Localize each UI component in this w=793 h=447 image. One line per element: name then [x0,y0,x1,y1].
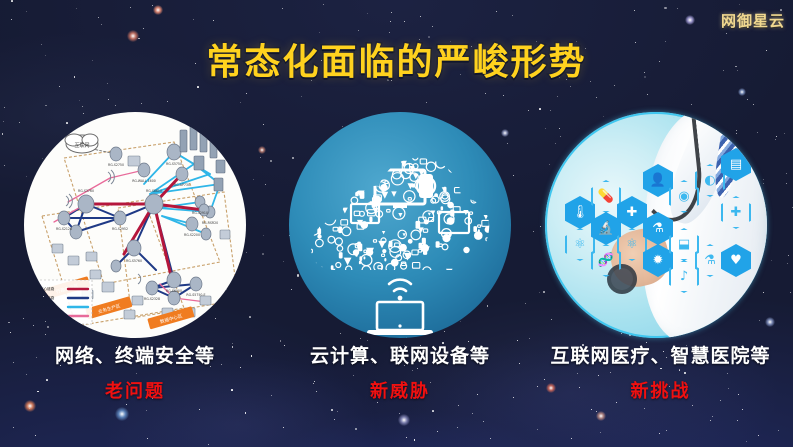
caption-cloud-highlight: 新威胁 [275,377,525,403]
svg-text:RG-S2952: RG-S2952 [112,227,128,231]
svg-text:RG-AP730: RG-AP730 [174,183,190,187]
svg-text:RG-S5760: RG-S5760 [126,259,142,263]
svg-text:RG-S5750-E: RG-S5750-E [186,293,205,297]
caption-column-network: 网络、终端安全等 老问题 [10,341,260,403]
svg-text:RG-S2910: RG-S2910 [192,211,208,215]
laptop-icon [367,302,433,335]
company-logo: 网御星云 [721,10,785,31]
smart-hospital-circle: 🌡 ⚛ 💊 🔬 🧬 ✚ ⚛ 👤 ⚗ ✹ ◉ ⬓ ♪ ◐ ⚗ ▤ ✚ ♥ [545,112,767,338]
cloud-svg [289,112,511,338]
svg-text:RG-S2126: RG-S2126 [56,227,72,231]
illustration-row: 互联网 [0,112,793,340]
svg-text:RG-S2750: RG-S2750 [108,163,124,167]
caption-healthcare-highlight: 新挑战 [528,377,793,403]
network-topology-circle: 互联网 [24,112,246,338]
svg-text:AP-272: AP-272 [214,305,225,309]
cloud-computing-illustration [289,112,511,338]
svg-text:RG-S8610: RG-S8610 [146,189,162,193]
caption-network-label: 网络、终端安全等 [10,341,260,368]
thermometer-icon: 🌡 [565,196,595,229]
caption-cloud-label: 云计算、联网设备等 [275,341,525,368]
caption-network-highlight: 老问题 [10,377,260,403]
molecule-icon: ⚛ [565,228,595,261]
slide-root: 网御星云 常态化面临的严峻形势 [0,0,793,447]
svg-text:无线链路: 无线链路 [40,313,55,318]
svg-text:RG-RSR20: RG-RSR20 [202,221,218,225]
caption-column-healthcare: 互联网医疗、智慧医院等 新挑战 [528,341,793,403]
page-title: 常态化面临的严峻形势 [0,33,793,85]
svg-text:RG-WALL 1600: RG-WALL 1600 [132,179,156,183]
topology-svg: 互联网 [24,112,246,338]
caption-column-cloud: 云计算、联网设备等 新威胁 [275,341,525,403]
cloud-computing-circle [289,112,511,338]
svg-text:汇聚链路: 汇聚链路 [40,295,55,300]
pills-icon: 💊 [591,180,621,213]
wifi-icon [389,280,411,301]
svg-text:接入链路: 接入链路 [40,304,55,309]
svg-text:RG-S2328: RG-S2328 [144,297,160,301]
svg-text:RG-S6000: RG-S6000 [166,289,182,293]
svg-text:RG-S2200: RG-S2200 [184,233,200,237]
captions-row: 网络、终端安全等 老问题 云计算、联网设备等 新威胁 互联网医疗、智慧医院等 新… [0,341,793,411]
topology-legend: 核心链路 汇聚链路 接入链路 无线链路 [36,280,92,324]
cloud-icon-mosaic [301,154,499,280]
svg-text:RG-S3760: RG-S3760 [78,189,94,193]
network-topology-diagram: 互联网 [24,112,246,338]
svg-text:互联网: 互联网 [74,142,89,149]
caption-healthcare-label: 互联网医疗、智慧医院等 [528,341,793,368]
svg-text:核心链路: 核心链路 [40,286,55,291]
svg-text:RG-S5750: RG-S5750 [166,162,182,166]
